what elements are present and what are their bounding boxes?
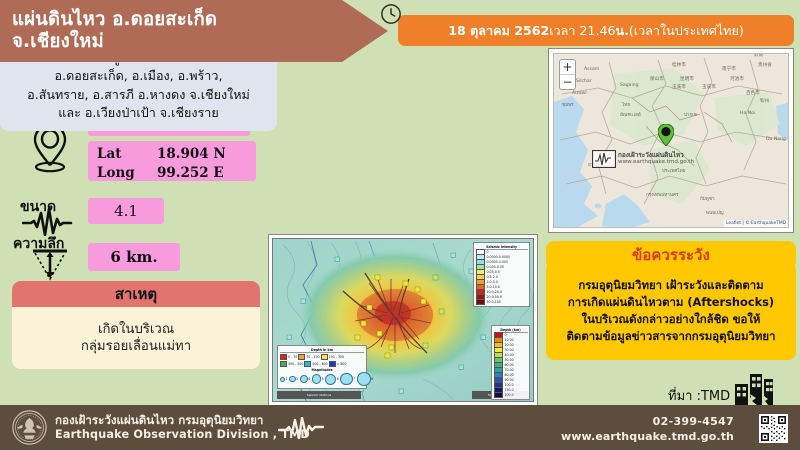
depth-legend-label: 70.00 [505, 368, 514, 372]
svg-text:Aizawl: Aizawl [572, 90, 587, 96]
footer-contact: 02-399-4547 www.earthquake.tmd.go.th [561, 415, 734, 445]
map-attribution[interactable]: Leaflet | © EarthquakeTMD [724, 220, 788, 227]
depth-inset-swatch [298, 354, 305, 360]
svg-text:กรุงเทพมหานคร: กรุงเทพมหานคร [646, 192, 679, 198]
svg-text:桂林市: 桂林市 [672, 61, 686, 68]
shakemap-scalebar: Seismic stations [277, 391, 361, 399]
warning-line-2: การเกิดแผ่นดินไหวตาม (Aftershocks) [567, 294, 776, 311]
magnitude-legend-item: 5 [312, 374, 324, 384]
footer-org-en: Earthquake Observation Division , TMD [55, 428, 310, 443]
map-zoom-controls[interactable]: + − [559, 59, 576, 90]
intensity-legend-label: 0.005-0.05 [487, 265, 504, 269]
magnitude-legend-item: 3 [289, 376, 298, 383]
intensity-legend-label: 10.0-20.0 [487, 290, 502, 294]
zoom-in-button[interactable]: + [560, 60, 575, 75]
depth-inset-label: 0 - 70 [288, 355, 297, 359]
depth-inset-row: 70 - 150 [298, 354, 319, 360]
magnitude-legend-item: 7 [340, 373, 355, 386]
depth-legend-row: 200.0 [494, 393, 528, 398]
intensity-legend-row: 50.0-100 [476, 300, 528, 305]
intensity-legend-rows: 00.0000-0.00050.0005-0.0050.005-0.050.05… [476, 250, 528, 305]
date-unit: น. [615, 21, 628, 41]
intensity-legend-label: 0.0000-0.0005 [487, 255, 510, 259]
svg-text:昆明市: 昆明市 [680, 75, 694, 82]
svg-text:玉溪市: 玉溪市 [702, 83, 716, 90]
warning-heading: ข้อควรระวัง [546, 241, 796, 269]
earthquake-marker-icon[interactable] [658, 124, 674, 146]
cracked-buildings-icon [733, 372, 775, 406]
title-line-1: แผ่นดินไหว อ.ดอยสะเก็ด [12, 9, 217, 31]
magnitude-legend-item: 4 [300, 375, 311, 383]
svg-text:พนมเปญ: พนมเปญ [706, 210, 724, 216]
svg-text:贵州省: 贵州省 [758, 61, 772, 68]
magnitude-legend-label: 6 [337, 377, 339, 381]
infographic-root: แผ่นดินไหว อ.ดอยสะเก็ด จ.เชียงใหม่ 18 ตุ… [0, 0, 800, 450]
svg-text:Assam: Assam [584, 66, 600, 72]
intensity-legend-label: 50.0-100 [487, 300, 501, 304]
seismograph-logo-icon [592, 150, 616, 168]
date-time-mid: เวลา 21.46 [549, 21, 615, 41]
svg-text:黔南: 黔南 [754, 54, 764, 58]
lat-key: Lat [97, 145, 157, 164]
depth-inset-row: > 800 [329, 361, 347, 367]
depth-inset-row: 150 - 300 [321, 354, 344, 360]
title-banner: แผ่นดินไหว อ.ดอยสะเก็ด จ.เชียงใหม่ [0, 0, 388, 62]
intensity-legend-label: 2.0-5.0 [487, 280, 498, 284]
long-key: Long [97, 164, 157, 183]
impact-line-2: อ.ดอยสะเก็ด, อ.เมือง, อ.พร้าว, [27, 67, 250, 85]
clock-icon [380, 3, 402, 25]
footer-bar: กองเฝ้าระวังแผ่นดินไหว กรมอุตุนิยมวิทยา … [0, 405, 800, 450]
magnitude-legend-label: 4 [308, 377, 310, 381]
magnitude-legend-circle [312, 374, 322, 384]
seismograph-icon [278, 417, 334, 441]
depth-value-chip: 6 km. [88, 243, 180, 271]
svg-text:百色市: 百色市 [746, 89, 760, 96]
cause-body: เกิดในบริเวณ กลุ่มรอยเลื่อนแม่ทา [12, 307, 260, 369]
depth-legend-label: 60.00 [505, 363, 514, 367]
depth-legend-label: 40.00 [505, 353, 514, 357]
cause-line-2: กลุ่มรอยเลื่อนแม่ทา [81, 338, 191, 355]
title-line-2: จ.เชียงใหม่ [12, 31, 217, 53]
impact-line-3: อ.สันทราย, อ.สารภี อ.หางดง จ.เชียงใหม่ [27, 86, 250, 104]
magnitude-legend-label: 2 [286, 377, 288, 381]
depth-arrow-icon [22, 248, 78, 282]
footer-org-th: กองเฝ้าระวังแผ่นดินไหว กรมอุตุนิยมวิทยา [55, 413, 310, 428]
depth-inset-label: > 800 [337, 362, 347, 366]
depth-inset-label: 150 - 300 [329, 355, 344, 359]
long-value: 99.252 E [157, 164, 224, 183]
watermark-line-2: www.earthquake.tmd.go.th [618, 159, 694, 165]
magnitude-legend-label: 8 [371, 377, 373, 381]
depth-inset-label: 500 - 800 [312, 362, 327, 366]
depth-legend-label: 0 [505, 333, 507, 337]
svg-text:Sagaing: Sagaing [620, 82, 639, 88]
magnitude-legend-label: 7 [353, 377, 355, 381]
svg-text:玉溪市: 玉溪市 [672, 83, 686, 90]
intensity-legend: Seismic Intensity 00.0000-0.00050.0005-0… [473, 242, 530, 307]
magnitude-legend-circle [289, 376, 296, 383]
intensity-legend-label: 20.0-50.0 [487, 295, 502, 299]
intensity-legend-swatch [476, 299, 485, 305]
seismic-wave-icon [22, 208, 84, 236]
magnitude-legend-item: 2 [280, 377, 288, 382]
depth-inset-row: 300 - 500 [280, 361, 303, 367]
depth-legend: Depth (km) 010.0020.0030.0040.0050.0060.… [491, 325, 530, 400]
svg-text:กัมพูชา: กัมพูชา [700, 195, 715, 202]
intensity-legend-label: 0.5-2.0 [487, 275, 498, 279]
location-map-canvas[interactable]: AssamSilcharAizawl Sagaingชุมพรมัณฑะเลย์… [553, 53, 789, 228]
shakemap[interactable]: Seismic Intensity 00.0000-0.00050.0005-0… [268, 234, 538, 406]
cause-heading: สาเหตุ [12, 281, 260, 307]
depth-inset-label: 300 - 500 [288, 362, 303, 366]
depth-inset-row: 0 - 70 [280, 354, 297, 360]
watermark-line-1: กองเฝ้าระวังแผ่นดินไหว [618, 152, 694, 159]
magnitude-legend-label: 5 [322, 377, 324, 381]
cause-line-1: เกิดในบริเวณ [81, 321, 191, 338]
svg-text:Ha Noi: Ha Noi [740, 110, 755, 116]
intensity-legend-label: 0.05-0.5 [487, 270, 500, 274]
magnitude-legend-rows: 2345678 [280, 372, 364, 386]
depth-inset-title: Depth in km [280, 348, 364, 353]
svg-text:มัณฑะเลย์: มัณฑะเลย์ [620, 111, 641, 118]
depth-inset-swatch [321, 354, 328, 360]
depth-inset-swatch [280, 361, 287, 367]
svg-text:保山市: 保山市 [650, 75, 664, 82]
location-map[interactable]: AssamSilcharAizawl Sagaingชุมพรมัณฑะเลย์… [548, 48, 794, 233]
source-credit: ที่มา :TMD [668, 372, 775, 406]
warning-body: กรมอุตุนิยมวิทยา เฝ้าระวังและติดตาม การเ… [546, 262, 796, 360]
depth-legend-label: 50.00 [505, 358, 514, 362]
magnitude-legend-circle [325, 374, 336, 385]
depth-inset-label: 70 - 150 [306, 355, 319, 359]
svg-text:Da Nang: Da Nang [766, 136, 786, 142]
magnitude-legend-label: 3 [296, 377, 298, 381]
warning-line-1: กรมอุตุนิยมวิทยา เฝ้าระวังและติดตาม [567, 277, 776, 294]
qr-code-icon[interactable] [759, 414, 788, 443]
intensity-legend-label: 5.0-10.0 [487, 285, 500, 289]
depth-inset-swatch [329, 361, 336, 367]
datetime-banner: 18 ตุลาคม 2562 เวลา 21.46 น. (เวลาในประเ… [398, 15, 794, 46]
svg-text:河池市: 河池市 [730, 75, 744, 82]
magnitude-legend-item: 8 [357, 372, 374, 386]
shakemap-canvas[interactable]: Seismic Intensity 00.0000-0.00050.0005-0… [272, 238, 534, 402]
zoom-out-button[interactable]: − [560, 75, 575, 89]
depth-legend-label: 80.00 [505, 373, 514, 377]
svg-text:钦州: 钦州 [760, 97, 770, 104]
footer-phone: 02-399-4547 [561, 415, 734, 430]
svg-text:ชุมพร: ชุมพร [562, 102, 574, 108]
garuda-seal-icon [12, 410, 47, 445]
magnitude-legend-circle [300, 375, 308, 383]
magnitude-legend-circle [340, 373, 353, 386]
lat-value: 18.904 N [157, 145, 226, 164]
intensity-legend-label: 0 [487, 250, 489, 254]
depth-legend-label: 150.0 [505, 388, 514, 392]
magnitude-legend-circle [280, 377, 285, 382]
svg-text:南宁市: 南宁市 [722, 65, 736, 72]
cause-card: สาเหตุ เกิดในบริเวณ กลุ่มรอยเลื่อนแม่ทา [12, 281, 260, 369]
svg-text:ประเทศไทย: ประเทศไทย [662, 167, 686, 174]
warning-line-3: ในบริเวณดังกล่าวอย่างใกล้ชิด ขอให้ [567, 311, 776, 328]
map-watermark: กองเฝ้าระวังแผ่นดินไหว www.earthquake.tm… [592, 150, 694, 168]
magnitude-legend-circle [357, 372, 371, 386]
depth-legend-swatch [494, 392, 503, 398]
depth-legend-label: 10.00 [505, 338, 514, 342]
svg-text:Silchar: Silchar [576, 78, 592, 84]
footer-org: กองเฝ้าระวังแผ่นดินไหว กรมอุตุนิยมวิทยา … [55, 413, 310, 443]
depth-inset-rows: 0 - 7070 - 150150 - 300300 - 500500 - 80… [280, 354, 364, 367]
depth-legend-label: 90.00 [505, 378, 514, 382]
depth-legend-label: 30.00 [505, 348, 514, 352]
magnitude-legend-item: 6 [325, 374, 339, 385]
magnitude-value-chip: 4.1 [88, 198, 164, 224]
date-timezone: (เวลาในประเทศไทย) [629, 21, 744, 41]
impact-line-4: และ อ.เวียงป่าเป้า จ.เชียงราย [27, 104, 250, 122]
intensity-legend-label: 0.0005-0.005 [487, 260, 508, 264]
footer-website[interactable]: www.earthquake.tmd.go.th [561, 430, 734, 445]
depth-inset-swatch [280, 354, 287, 360]
depth-legend-label: 100.0 [505, 383, 514, 387]
depth-inset-swatch [304, 361, 311, 367]
date-bold: 18 ตุลาคม 2562 [448, 21, 549, 41]
source-label: ที่มา :TMD [668, 385, 730, 406]
svg-text:ไทย: ไทย [621, 101, 630, 108]
coordinates-chip: Lat18.904 N Long99.252 E [88, 141, 256, 181]
depth-magnitude-legend: Depth in km 0 - 7070 - 150150 - 300300 -… [277, 345, 367, 389]
depth-legend-label: 20.00 [505, 343, 514, 347]
depth-legend-label: 200.0 [505, 393, 514, 397]
warning-line-4: ติดตามข้อมูลข่าวสารจากกรมอุตุนิยมวิทยา [567, 328, 776, 345]
depth-inset-row: 500 - 800 [304, 361, 327, 367]
depth-legend-rows: 010.0020.0030.0040.0050.0060.0070.0080.0… [494, 333, 528, 398]
